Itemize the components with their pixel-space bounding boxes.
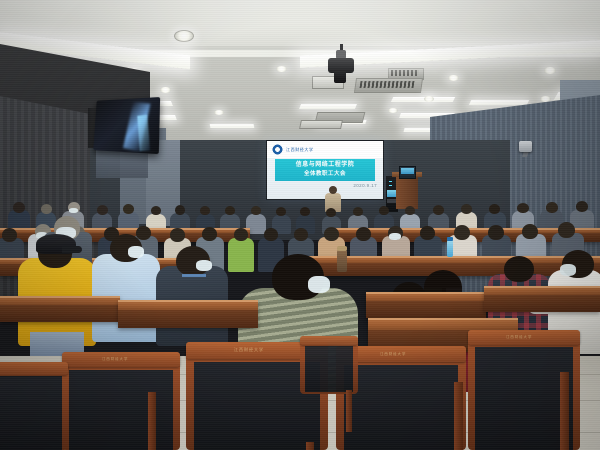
ceiling-light-panel [299, 104, 357, 109]
chair-upholstery [69, 370, 173, 450]
downlight [544, 67, 556, 74]
rack-led [389, 181, 392, 182]
desk-row-front [118, 300, 258, 328]
desk-row-front [366, 292, 486, 318]
chair-leg [454, 382, 463, 450]
tv-screensaver-swirl-2 [137, 115, 150, 152]
slide-header [267, 141, 383, 158]
lectern-monitor-icon[interactable] [399, 166, 416, 179]
chair-top-rail [300, 336, 358, 345]
downlight [540, 96, 551, 102]
ceiling-speaker [174, 30, 194, 42]
cap-brim [62, 246, 82, 253]
face-mask [560, 264, 576, 276]
wall-speaker-icon [519, 141, 532, 152]
chair[interactable]: 江西财经大学 [62, 352, 180, 450]
air-vent [299, 120, 343, 129]
face-mask [128, 246, 144, 258]
lectern-monitor-screen [401, 168, 414, 174]
face-mask [196, 260, 212, 271]
downlight [160, 87, 171, 93]
ceiling-light-panel [210, 124, 255, 128]
desk-row-front [0, 296, 120, 322]
wall-display-icon[interactable] [93, 97, 160, 154]
downlight [388, 108, 398, 113]
ceiling-light-panel [469, 100, 529, 105]
attendee-head [504, 256, 534, 282]
chair-upholstery [475, 347, 573, 450]
slide-date-text: 2020.9.17 [353, 183, 377, 188]
chair-leg [148, 392, 156, 450]
slide-title-line1: 信息与网络工程学院 [275, 161, 375, 170]
downlight [214, 110, 224, 115]
air-vent-louvers [391, 70, 419, 76]
chair-plaque: 江西财经大学 [506, 334, 532, 339]
face-mask [308, 276, 330, 293]
chair-leg [306, 442, 314, 450]
slide-organization-text: 江西财经大学 [286, 147, 314, 153]
chair-plaque: 江西财经大学 [234, 347, 264, 353]
slide-title-line2: 全体教职工大会 [275, 170, 375, 179]
lecture-hall-photo: 江西财经大学 信息与网络工程学院 全体教职工大会 2020.9.17 [0, 0, 600, 450]
tv-shelf [96, 150, 148, 178]
downlight [424, 96, 434, 102]
presenter-head [329, 186, 337, 194]
slide-title-band: 信息与网络工程学院 全体教职工大会 [275, 159, 375, 181]
desk-row-front [484, 286, 600, 312]
downlight [276, 66, 287, 72]
chair-plaque: 江西财经大学 [102, 356, 128, 361]
collar-stripe [182, 274, 206, 277]
chair[interactable] [300, 336, 358, 394]
downlight [448, 75, 459, 81]
projector-lens [334, 71, 346, 83]
chair-upholstery [344, 365, 458, 450]
rack-led [389, 185, 392, 186]
chair-upholstery [305, 346, 353, 392]
ceiling-light-panel [391, 97, 455, 102]
chair-leg [560, 372, 569, 450]
ceiling-soffit [0, 0, 600, 46]
chair-top-rail [0, 362, 68, 375]
chair-plaque: 江西财经大学 [380, 351, 406, 356]
chair[interactable] [0, 362, 68, 450]
air-vent-louvers [360, 81, 415, 88]
university-emblem-icon [272, 144, 283, 155]
attendee-head [576, 201, 588, 212]
chair-leg [346, 390, 352, 432]
chair-upholstery [0, 376, 62, 450]
